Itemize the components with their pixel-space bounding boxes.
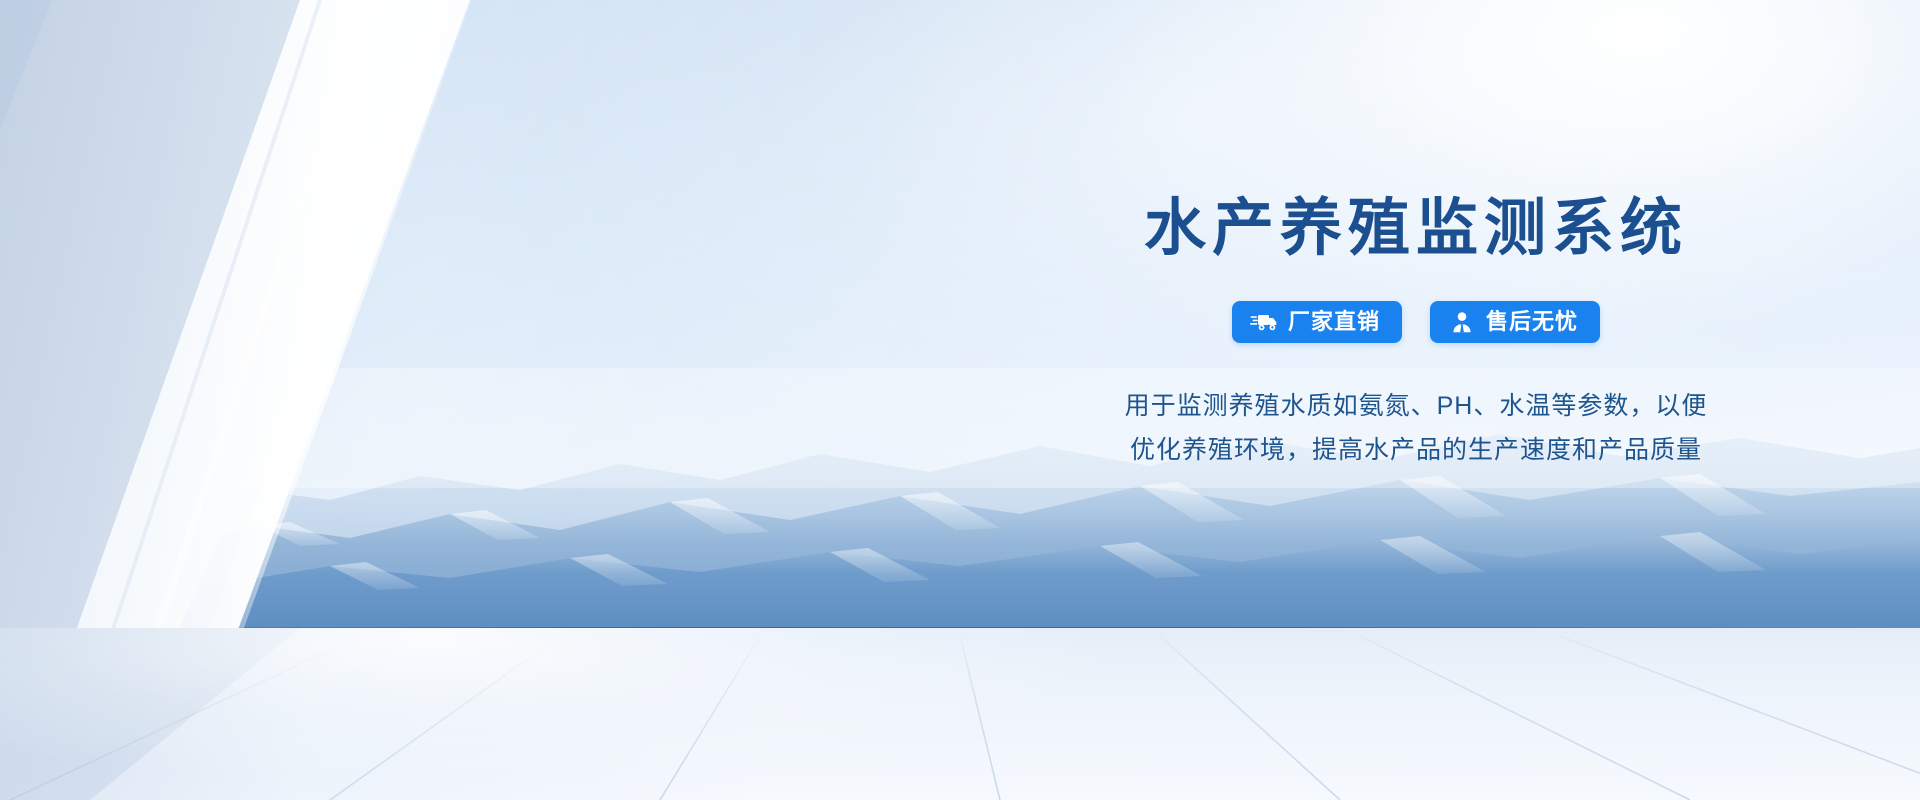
badge-after-sales[interactable]: 售后无忧 (1430, 301, 1600, 343)
badge-factory-direct[interactable]: 厂家直销 (1232, 301, 1402, 343)
badge-label: 厂家直销 (1288, 311, 1380, 333)
page-title: 水产养殖监测系统 (1144, 196, 1688, 263)
description-line: 优化养殖环境，提高水产品的生产速度和产品质量 (1125, 429, 1708, 473)
description-line: 用于监测养殖水质如氨氮、PH、水温等参数，以便 (1125, 385, 1708, 429)
badge-row: 厂家直销 售后无忧 (1232, 301, 1600, 343)
customer-service-icon (1448, 310, 1476, 334)
badge-label: 售后无忧 (1486, 311, 1578, 333)
banner-content: 水产养殖监测系统 厂家直销 (996, 0, 1836, 800)
hero-banner: 水产养殖监测系统 厂家直销 (0, 0, 1920, 800)
truck-icon (1250, 310, 1278, 334)
banner-description: 用于监测养殖水质如氨氮、PH、水温等参数，以便 优化养殖环境，提高水产品的生产速… (1125, 385, 1708, 473)
